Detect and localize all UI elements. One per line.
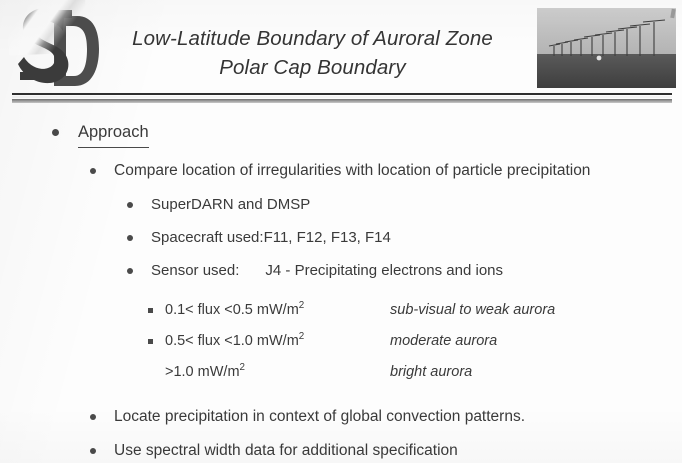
bullet-dot-icon	[90, 448, 96, 454]
bullet-superdarn-dmsp: SuperDARN and DMSP	[0, 188, 682, 221]
text-compare-location: Compare location of irregularities with …	[114, 154, 590, 188]
flux-range-text: 0.1< flux <0.5 mW/m	[165, 302, 299, 318]
bullet-dot-icon	[127, 202, 133, 208]
flux-range-exponent: 2	[299, 300, 304, 311]
flux-row: 0.5< flux <1.0 mW/m2 moderate aurora	[0, 326, 682, 357]
bullet-dot-icon	[127, 268, 133, 274]
title-line-2: Polar Cap Boundary	[95, 53, 530, 82]
heading-approach: Approach	[78, 118, 149, 148]
header-divider-thick	[12, 99, 672, 103]
flux-range-exponent: 2	[240, 362, 245, 373]
title-line-1: Low-Latitude Boundary of Auroral Zone	[95, 24, 530, 53]
bullet-square-icon	[148, 308, 153, 313]
bullet-approach: Approach	[0, 118, 682, 146]
bullet-compare-location: Compare location of irregularities with …	[0, 154, 682, 188]
flux-row: >1.0 mW/m2 bright aurora	[0, 357, 682, 388]
superdarn-antenna-photo	[537, 8, 676, 88]
bullet-dot-icon	[90, 414, 96, 420]
bullet-dot-icon	[90, 168, 96, 174]
sd-monogram-logo	[14, 2, 100, 94]
slide-canvas: Low-Latitude Boundary of Auroral Zone Po…	[0, 0, 682, 463]
flux-description: sub-visual to weak aurora	[390, 295, 555, 326]
label-sensor-used: Sensor used:	[151, 262, 239, 279]
bullet-dot-icon	[127, 235, 133, 241]
bullet-square-icon	[148, 339, 153, 344]
page-title: Low-Latitude Boundary of Auroral Zone Po…	[95, 24, 530, 82]
slide-body: Approach Compare location of irregularit…	[0, 118, 682, 463]
header-divider-thin	[12, 93, 672, 95]
text-spacecraft-used: Spacecraft used:F11, F12, F13, F14	[151, 221, 391, 254]
slide-header: Low-Latitude Boundary of Auroral Zone Po…	[0, 0, 682, 100]
bullet-locate-precipitation: Locate precipitation in context of globa…	[0, 400, 682, 434]
flux-description: bright aurora	[390, 357, 472, 388]
flux-range-text: 0.5< flux <1.0 mW/m	[165, 333, 299, 349]
text-superdarn-dmsp: SuperDARN and DMSP	[151, 188, 310, 221]
header-divider-gap	[12, 96, 672, 98]
bullet-sensor-used: Sensor used:J4 - Precipitating electrons…	[0, 254, 682, 287]
value-sensor-used: J4 - Precipitating electrons and ions	[265, 262, 503, 279]
text-locate-precipitation: Locate precipitation in context of globa…	[114, 400, 525, 434]
flux-range-text: >1.0 mW/m	[165, 364, 240, 380]
bullet-dot-icon	[52, 129, 59, 136]
bullet-spacecraft-used: Spacecraft used:F11, F12, F13, F14	[0, 221, 682, 254]
flux-description: moderate aurora	[390, 326, 497, 357]
flux-row: 0.1< flux <0.5 mW/m2 sub-visual to weak …	[0, 295, 682, 326]
bullet-spectral-width: Use spectral width data for additional s…	[0, 434, 682, 463]
flux-range-exponent: 2	[299, 331, 304, 342]
text-spectral-width: Use spectral width data for additional s…	[114, 434, 458, 463]
